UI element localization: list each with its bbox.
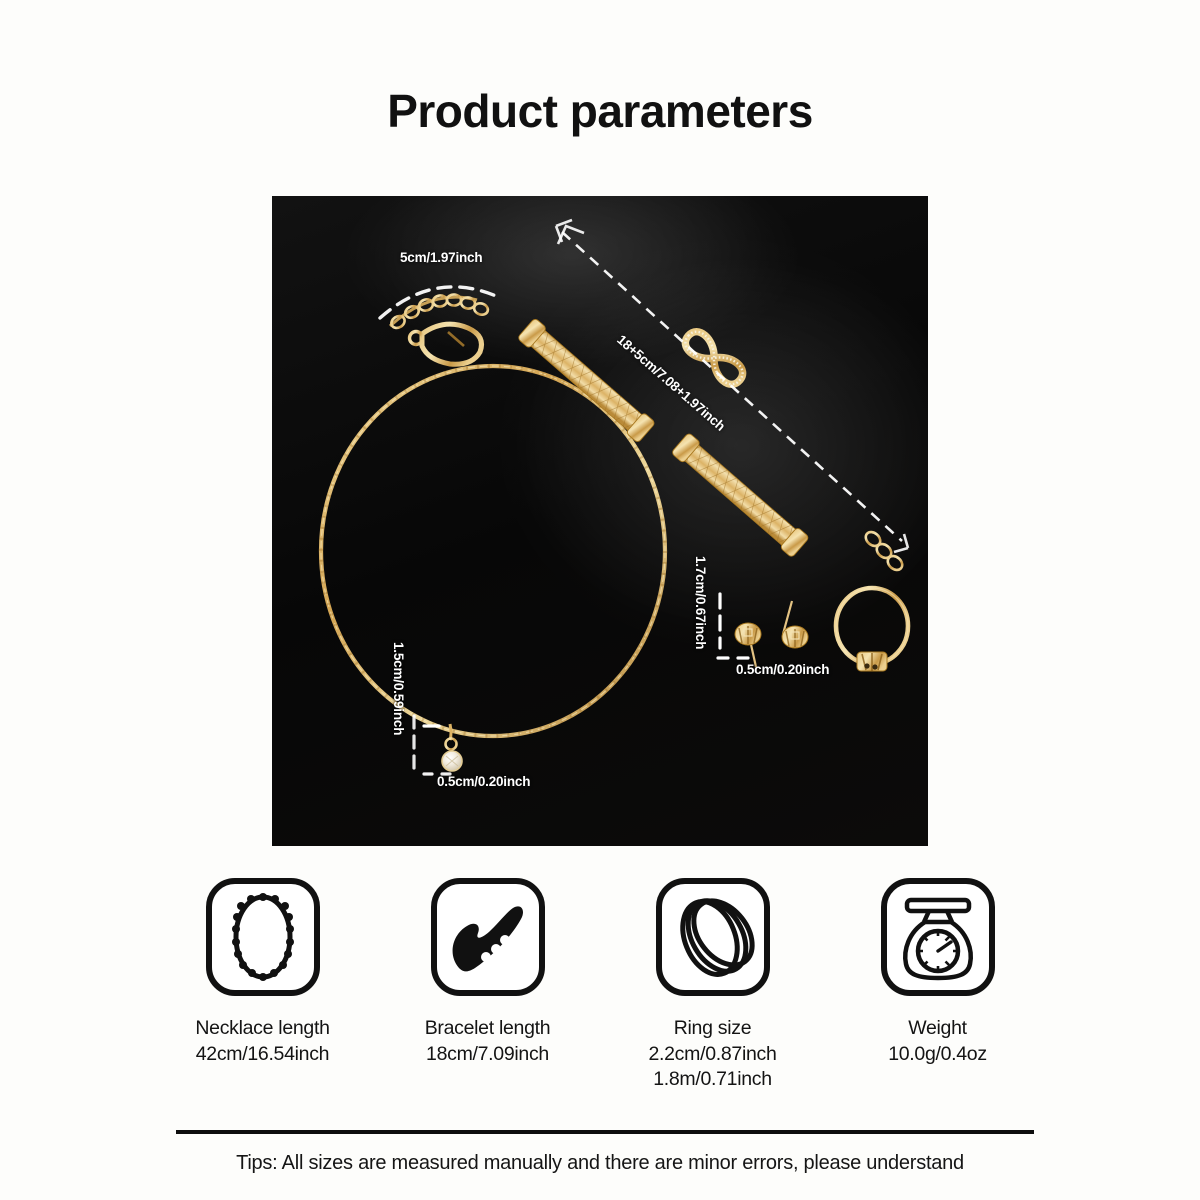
spec-ring-caption: Ring size 2.2cm/0.87inch 1.8m/0.71inch <box>648 1016 776 1093</box>
annotation-earring-height: 1.7cm/0.67inch <box>693 556 708 649</box>
spec-weight: Weight 10.0g/0.4oz <box>825 876 1050 1067</box>
page-title: Product parameters <box>0 84 1200 138</box>
product-photo-illustration <box>272 196 928 846</box>
spec-weight-value: 10.0g/0.4oz <box>888 1042 987 1068</box>
spec-weight-title: Weight <box>888 1016 987 1042</box>
spec-ring-title: Ring size <box>648 1016 776 1042</box>
footer-divider <box>176 1130 1034 1134</box>
spec-necklace-value: 42cm/16.54inch <box>195 1042 329 1068</box>
spec-bracelet-caption: Bracelet length 18cm/7.09inch <box>425 1016 551 1067</box>
weight-scale-icon <box>879 876 997 998</box>
necklace-icon <box>204 876 322 998</box>
annotation-necklace-extender: 5cm/1.97inch <box>400 250 482 265</box>
footer-tips: Tips: All sizes are measured manually an… <box>0 1152 1200 1175</box>
spec-ring-value-1: 2.2cm/0.87inch <box>648 1042 776 1068</box>
spec-necklace: Necklace length 42cm/16.54inch <box>150 876 375 1067</box>
spec-necklace-title: Necklace length <box>195 1016 329 1042</box>
spec-bracelet-value: 18cm/7.09inch <box>425 1042 551 1068</box>
spec-weight-caption: Weight 10.0g/0.4oz <box>888 1016 987 1067</box>
spec-bracelet: Bracelet length 18cm/7.09inch <box>375 876 600 1067</box>
spec-ring: Ring size 2.2cm/0.87inch 1.8m/0.71inch <box>600 876 825 1093</box>
annotation-pendant-width: 0.5cm/0.20inch <box>437 774 530 789</box>
spec-bracelet-title: Bracelet length <box>425 1016 551 1042</box>
product-photo-panel: 5cm/1.97inch 18+5cm/7.08+1.97inch 1.5cm/… <box>272 196 928 846</box>
ring-stack-icon <box>654 876 772 998</box>
spec-necklace-caption: Necklace length 42cm/16.54inch <box>195 1016 329 1067</box>
annotation-earring-width: 0.5cm/0.20inch <box>736 662 829 677</box>
bracelet-icon <box>429 876 547 998</box>
annotation-pendant-height: 1.5cm/0.59inch <box>391 642 406 735</box>
spec-ring-value-2: 1.8m/0.71inch <box>648 1067 776 1093</box>
